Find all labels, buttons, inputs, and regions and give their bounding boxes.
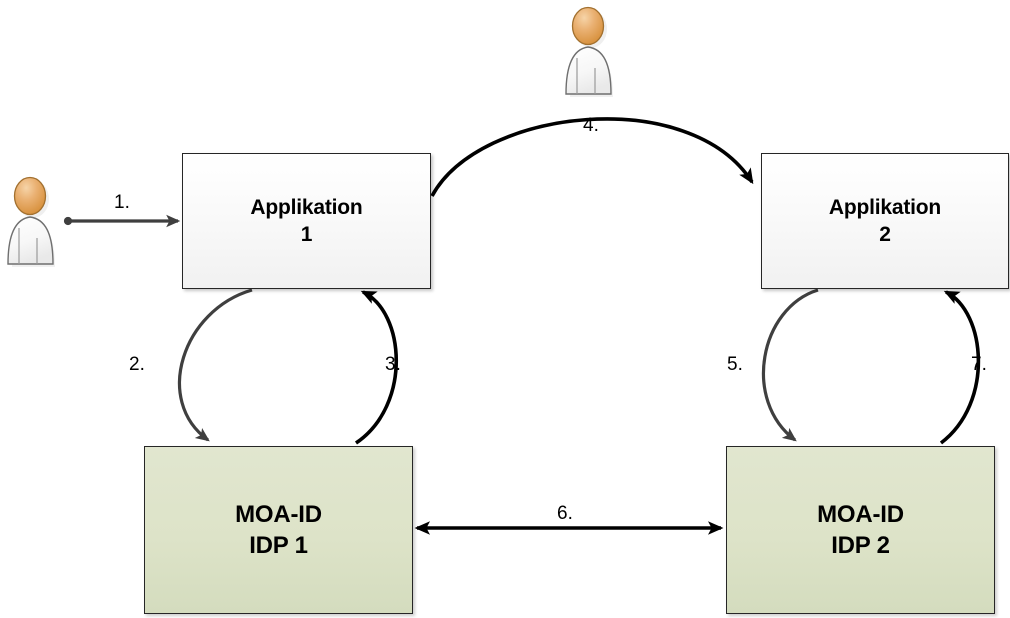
node-moa-id-idp-1-line2: IDP 1 bbox=[249, 530, 308, 561]
arrow-step-2 bbox=[180, 290, 252, 440]
step-label-3: 3. bbox=[385, 355, 401, 374]
diagram-canvas: Applikation 1 Applikation 2 MOA-ID IDP 1… bbox=[0, 0, 1010, 618]
node-moa-id-idp-1[interactable]: MOA-ID IDP 1 bbox=[144, 446, 413, 614]
actor-left-icon bbox=[8, 178, 55, 268]
node-moa-id-idp-2-line1: MOA-ID bbox=[817, 499, 904, 530]
step-label-1: 1. bbox=[114, 193, 130, 212]
step-label-5: 5. bbox=[727, 355, 743, 374]
actor-top-icon bbox=[566, 8, 613, 98]
node-applikation-2[interactable]: Applikation 2 bbox=[761, 153, 1009, 289]
node-moa-id-idp-2[interactable]: MOA-ID IDP 2 bbox=[726, 446, 995, 614]
step-label-4: 4. bbox=[583, 116, 599, 135]
node-applikation-1-line1: Applikation bbox=[250, 194, 362, 221]
node-applikation-2-line2: 2 bbox=[879, 221, 890, 248]
step-label-6: 6. bbox=[557, 504, 573, 523]
step-label-7: 7. bbox=[971, 355, 987, 374]
node-applikation-1[interactable]: Applikation 1 bbox=[182, 153, 431, 289]
step-label-2: 2. bbox=[129, 355, 145, 374]
arrow-step-5 bbox=[763, 290, 818, 440]
node-applikation-1-line2: 1 bbox=[301, 221, 312, 248]
node-moa-id-idp-2-line2: IDP 2 bbox=[831, 530, 890, 561]
node-applikation-2-line1: Applikation bbox=[829, 194, 941, 221]
node-moa-id-idp-1-line1: MOA-ID bbox=[235, 499, 322, 530]
